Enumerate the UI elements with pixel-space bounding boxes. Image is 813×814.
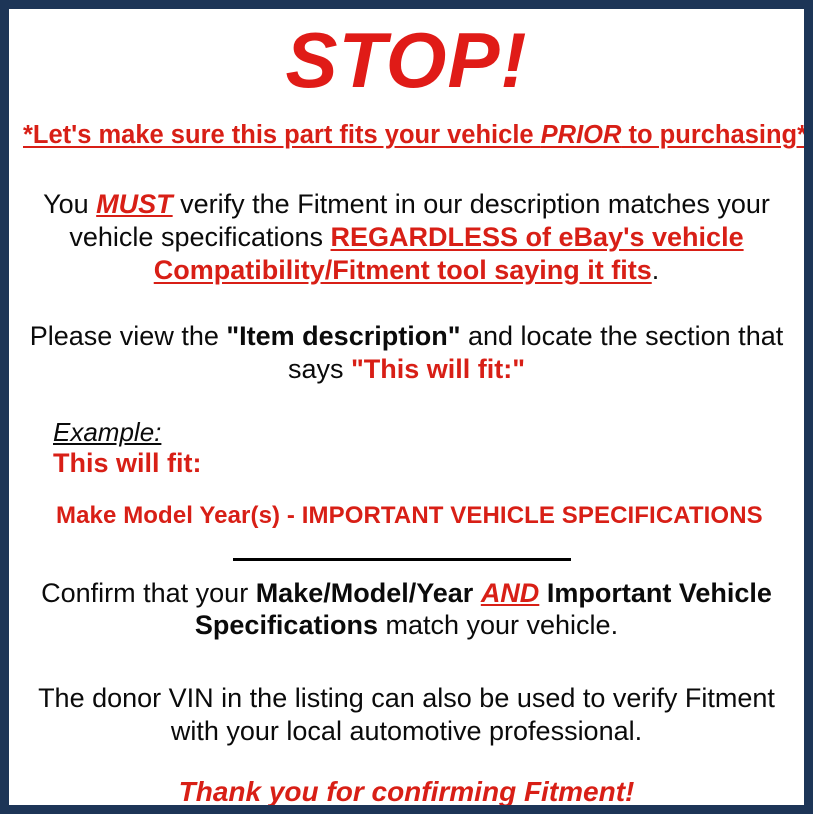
example-fit-heading: This will fit: xyxy=(53,447,790,478)
please-view-paragraph: Please view the "Item description" and l… xyxy=(23,286,790,385)
subtitle-banner: *Let's make sure this part fits your veh… xyxy=(23,99,790,150)
subtitle-emphasis-prior: PRIOR xyxy=(541,121,622,149)
must-verify-paragraph: You MUST verify the Fitment in our descr… xyxy=(23,150,790,286)
divider-wrap xyxy=(23,530,790,561)
example-label: Example: xyxy=(53,418,790,447)
subtitle-tail-text: to purchasing* xyxy=(621,121,807,149)
this-will-fit-quote: "This will fit:" xyxy=(351,354,525,384)
must-keyword: MUST xyxy=(96,189,173,219)
thank-you-line: Thank you for confirming Fitment! xyxy=(23,747,790,809)
confirm-seg1: Confirm that your xyxy=(41,578,256,608)
subtitle-lead-text: *Let's make sure this part fits your veh… xyxy=(23,121,541,149)
notice-sheet: STOP! *Let's make sure this part fits yo… xyxy=(9,9,804,805)
horizontal-rule-divider xyxy=(233,558,571,561)
fitment-notice-poster: STOP! *Let's make sure this part fits yo… xyxy=(0,0,813,814)
and-keyword: AND xyxy=(481,578,540,608)
must-paragraph-seg1: You xyxy=(43,189,96,219)
page-title: STOP! xyxy=(23,9,790,99)
must-paragraph-period: . xyxy=(652,255,660,285)
confirm-paragraph: Confirm that your Make/Model/Year AND Im… xyxy=(23,561,790,642)
donor-vin-paragraph: The donor VIN in the listing can also be… xyxy=(23,642,790,747)
item-description-label: "Item description" xyxy=(226,321,460,351)
make-model-year-label: Make/Model/Year xyxy=(256,578,474,608)
please-view-seg1: Please view the xyxy=(30,321,227,351)
confirm-seg2: match your vehicle. xyxy=(378,610,618,640)
example-spec-line: Make Model Year(s) - IMPORTANT VEHICLE S… xyxy=(53,478,790,530)
example-block: Example: This will fit: Make Model Year(… xyxy=(23,386,790,530)
